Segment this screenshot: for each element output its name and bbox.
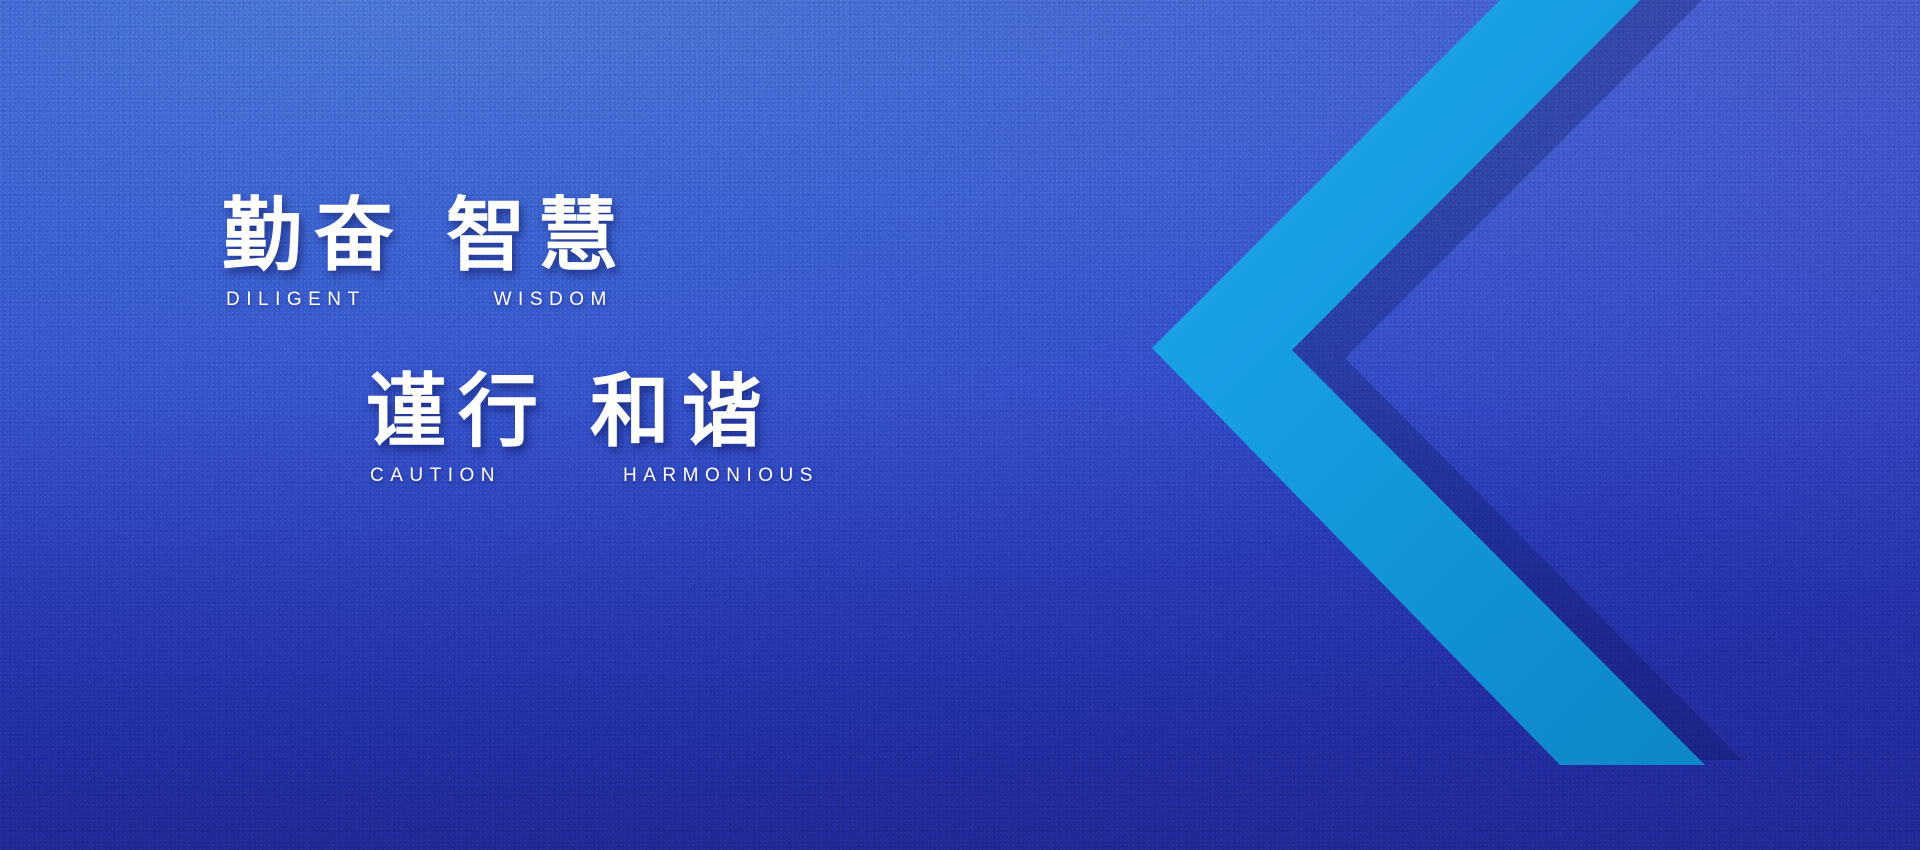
- slogan-line-2-english-1: CAUTION: [370, 466, 501, 485]
- slogan-line-1-english-1: DILIGENT: [226, 290, 366, 309]
- slogan-line-1: 勤奋 智慧 DILIGENT WISDOM: [222, 196, 630, 309]
- slogan-line-2-chinese: 谨行 和谐: [366, 372, 819, 452]
- slogan-line-2-english-row: CAUTION HARMONIOUS: [366, 466, 819, 485]
- slogan-line-1-english-2: WISDOM: [494, 290, 613, 309]
- slogan-line-1-english-row: DILIGENT WISDOM: [222, 290, 630, 309]
- slogan-line-2-english-2: HARMONIOUS: [623, 466, 819, 485]
- corporate-culture-banner: 江 苏 国 泰 金 生 典 当 · 投 资: [0, 0, 1920, 850]
- slogan-line-2: 谨行 和谐 CAUTION HARMONIOUS: [366, 372, 819, 485]
- slogan-line-1-chinese: 勤奋 智慧: [222, 196, 630, 276]
- slogan-text-block: 勤奋 智慧 DILIGENT WISDOM 谨行 和谐 CAUTION HARM…: [0, 0, 1040, 850]
